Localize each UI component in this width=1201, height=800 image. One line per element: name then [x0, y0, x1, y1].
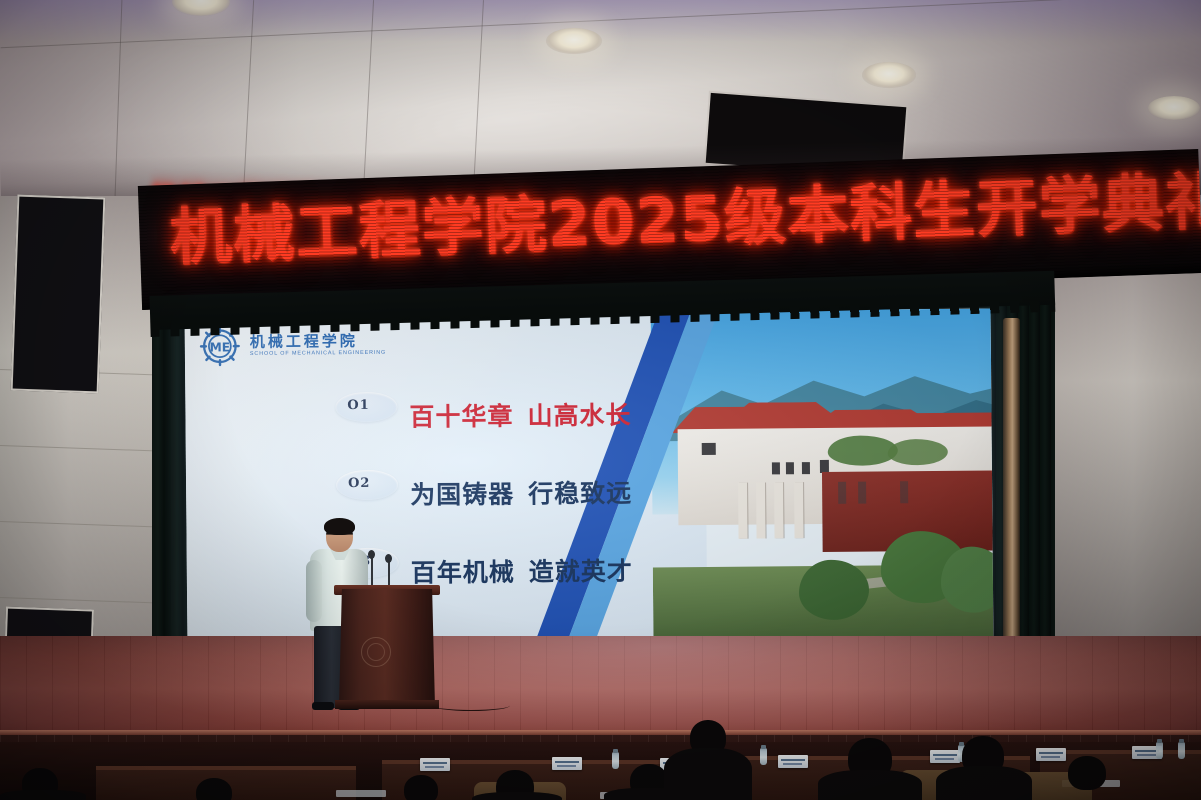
podium-base: [335, 700, 439, 709]
audience-person-shoulders: [936, 766, 1032, 800]
bullet-text: 为国铸器行稳致远: [410, 474, 632, 512]
name-tent-card: [1036, 748, 1066, 761]
name-tent-card: [930, 750, 960, 763]
photo-window: [786, 462, 794, 474]
bullet-number-text: O1: [347, 398, 370, 413]
bullet-text-right: 山高水长: [527, 401, 631, 431]
bullet-number-badge: O1: [335, 392, 397, 423]
bullet-text-right: 造就英才: [529, 557, 633, 587]
audience-person-shoulders: [664, 748, 752, 800]
bullet-text-right: 行稳致远: [528, 479, 632, 509]
speaker-arm: [306, 560, 322, 622]
podium-university-emblem-icon: [361, 637, 391, 667]
photo-tree: [799, 560, 870, 621]
photo-window: [702, 443, 716, 455]
audience-person-shoulders: [0, 790, 86, 800]
audience-paper: [336, 790, 386, 797]
bullet-text: 百年机械造就英才: [411, 552, 633, 590]
ceiling-downlight: [546, 28, 602, 54]
photo-column: [738, 483, 747, 539]
photo-window: [900, 481, 908, 503]
slide-bullet-row: O2 为国铸器行稳致远: [336, 465, 696, 520]
audience-person-head: [1068, 756, 1106, 790]
photo-window: [772, 462, 780, 474]
audience-desk-edge: [96, 766, 356, 770]
name-tent-card: [420, 758, 450, 771]
audience-person-shoulders: [472, 792, 562, 800]
bullet-text-left: 百十华章: [409, 402, 513, 432]
water-bottle: [1178, 742, 1185, 759]
bullet-text-left: 为国铸器: [410, 480, 514, 510]
photo-window: [858, 482, 866, 504]
audience-person-head: [404, 775, 438, 800]
svg-text:ME: ME: [210, 340, 231, 354]
slide-logo-chinese: 机械工程学院: [250, 333, 386, 350]
microphone-head: [368, 550, 375, 559]
slide-logo-english: SCHOOL OF MECHANICAL ENGINEERING: [250, 349, 386, 358]
audience-person-shoulders: [818, 770, 922, 800]
name-tent-card: [778, 755, 808, 768]
acoustic-panel: [11, 195, 106, 394]
bullet-text-left: 百年机械: [411, 558, 515, 588]
photo-column: [794, 482, 803, 538]
water-bottle: [1156, 742, 1163, 759]
photo-window: [802, 462, 810, 474]
ceiling-downlight: [862, 62, 916, 88]
microphone-head: [385, 554, 392, 563]
slide-campus-photo: [651, 308, 994, 639]
speaker-hair: [324, 518, 355, 535]
water-bottle: [760, 748, 767, 765]
floor-cable: [432, 700, 510, 711]
bullet-text: 百十华章山高水长: [409, 396, 631, 434]
bullet-number-badge: O2: [336, 470, 398, 501]
photo-column: [774, 482, 783, 538]
slide-bullet-row: O1 百十华章山高水长: [335, 387, 695, 442]
bullet-number-text: O2: [348, 476, 371, 491]
slide-logo-text: 机械工程学院 SCHOOL OF MECHANICAL ENGINEERING: [250, 333, 386, 358]
audience-person-head: [196, 778, 232, 800]
ceiling-downlight: [1148, 96, 1200, 120]
speaker-shoe: [312, 702, 334, 710]
water-bottle: [612, 752, 619, 769]
auditorium-scene: 机械工程学院2025级本科生开学典礼 机械工程学院2025级本科生开学典礼: [0, 0, 1201, 800]
photo-window: [838, 482, 846, 504]
photo-column: [756, 482, 765, 538]
name-tent-card: [552, 757, 582, 770]
